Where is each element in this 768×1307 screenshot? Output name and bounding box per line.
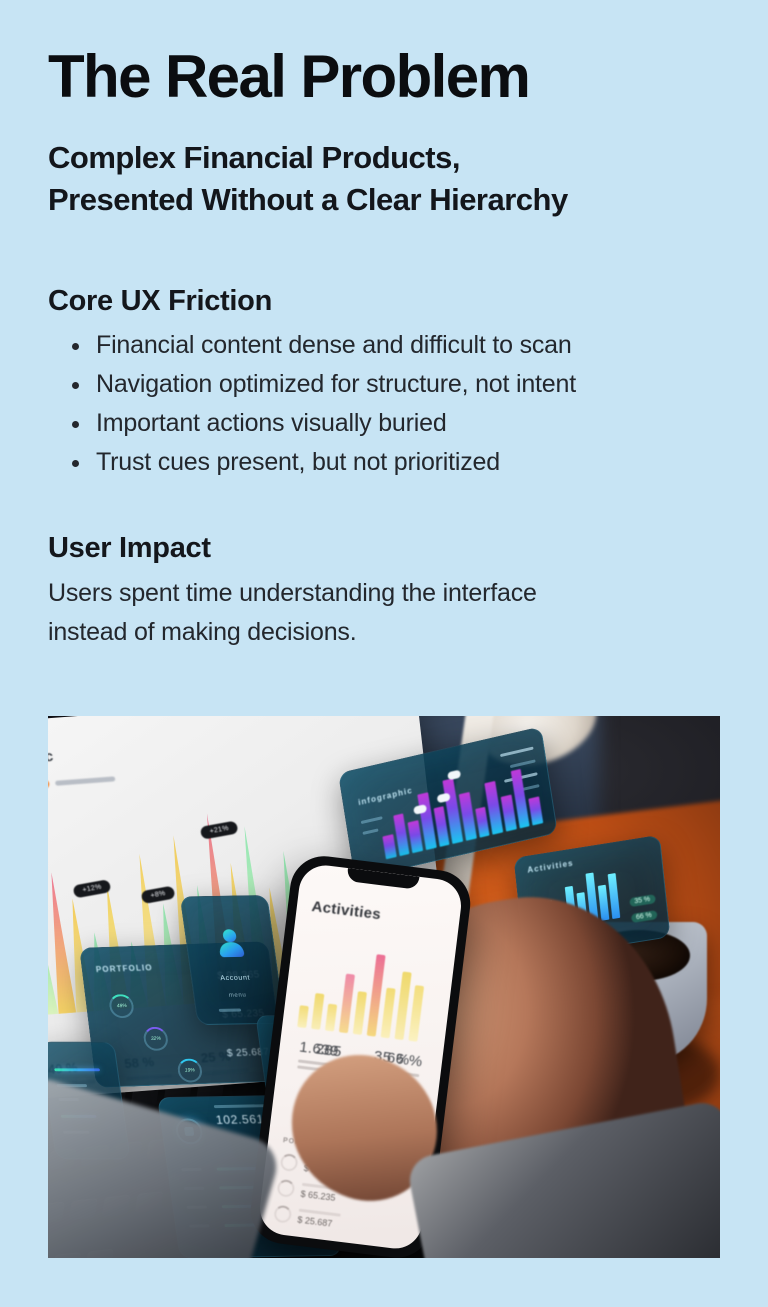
list-item: Important actions visually buried <box>70 404 720 443</box>
list-item: Trust cues present, but not prioritized <box>70 443 720 482</box>
list-item: Navigation optimized for structure, not … <box>70 365 720 404</box>
portfolio-progress-ring: 32% <box>143 1026 170 1051</box>
activities-metric: 66 % <box>631 910 658 923</box>
progress-ring-icon <box>276 1180 295 1199</box>
text-column: The Real Problem Complex Financial Produ… <box>0 0 768 652</box>
phone-portfolio-amount: $ 25.687 <box>297 1215 333 1229</box>
progress-ring-icon <box>273 1205 292 1224</box>
account-card-label: Account <box>220 975 251 982</box>
impact-line-2: instead of making decisions. <box>48 613 720 652</box>
portfolio-percent: 48% <box>117 1003 128 1009</box>
hero-photo: phic <box>48 716 720 1258</box>
phone-bar-chart <box>297 938 428 1041</box>
friction-bullet-list: Financial content dense and difficult to… <box>48 326 720 481</box>
portfolio-card-label: PORTFOLIO <box>96 962 154 973</box>
portfolio-percent: 32% <box>151 1035 162 1041</box>
account-card-sub: menu <box>229 993 247 999</box>
laptop-dashboard-title: phic <box>48 748 55 767</box>
legend-label <box>55 776 115 785</box>
laptop-side-panel <box>313 737 404 744</box>
slide-root: The Real Problem Complex Financial Produ… <box>0 0 768 1307</box>
phone-metric-group: 1.639 285 35 % 66 % <box>281 1036 443 1056</box>
subtitle-line-2: Presented Without a Clear Hierarchy <box>48 179 720 221</box>
subtitle-line-1: Complex Financial Products, <box>48 137 720 179</box>
core-ux-friction-section: Core UX Friction Financial content dense… <box>48 284 720 482</box>
section-title-friction: Core UX Friction <box>48 284 720 319</box>
list-item: $ 25.687 <box>273 1205 408 1238</box>
phone-portfolio-amount: $ 65.235 <box>300 1189 336 1203</box>
portfolio-percent: 19% <box>185 1067 196 1073</box>
phone-app-title: Activities <box>310 898 381 923</box>
stats-card-value: 102.561 <box>215 1113 265 1128</box>
laptop-chart-legend <box>48 774 116 789</box>
impact-line-1: Users spent time understanding the inter… <box>48 574 720 613</box>
holo-card-account: Account menu <box>180 895 286 1025</box>
user-impact-section: User Impact Users spent time understandi… <box>48 531 720 652</box>
portfolio-progress-ring: 48% <box>109 994 136 1019</box>
subtitle: Complex Financial Products, Presented Wi… <box>48 137 720 221</box>
legend-dot-icon <box>48 779 50 789</box>
page-title: The Real Problem <box>48 46 720 107</box>
progress-ring-icon <box>279 1154 298 1173</box>
section-title-impact: User Impact <box>48 531 720 566</box>
list-item: Financial content dense and difficult to… <box>70 326 720 365</box>
activities-metric: 35 % <box>629 894 656 907</box>
phone-notch <box>346 868 419 890</box>
user-avatar-icon <box>213 929 247 959</box>
portfolio-progress-ring: 19% <box>177 1058 204 1083</box>
